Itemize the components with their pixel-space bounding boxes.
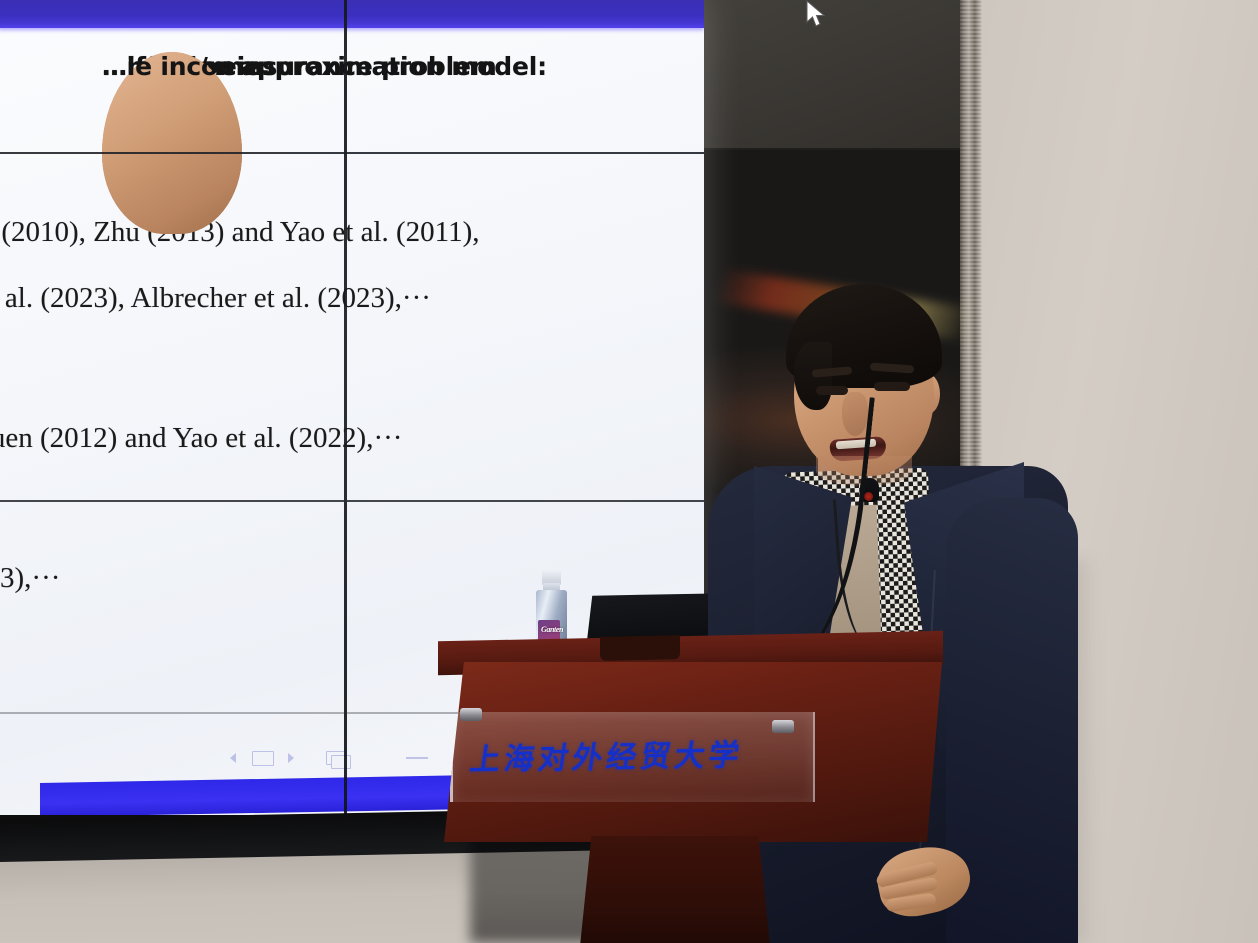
slide-frame-icon[interactable] — [252, 751, 274, 766]
slide-line-3: …u et al. (2023), Albrecher et al. (2023… — [0, 282, 431, 315]
lectern-notch — [600, 635, 680, 661]
lectern-base — [580, 836, 770, 943]
slide-line-6: …le income: — [102, 52, 242, 234]
beamer-navigation-bar[interactable] — [230, 749, 430, 767]
panel-seam-horizontal-upper — [0, 152, 704, 154]
panel-seam-vertical-center — [344, 0, 347, 845]
eye-right — [874, 382, 910, 391]
slide-line-2: …uler (2010), Zhu (2013) and Yao et al. … — [0, 216, 479, 249]
slide-line-5: … Yuen (2012) and Yao et al. (2022),··· — [0, 422, 402, 455]
unlit-panel-top — [700, 0, 960, 148]
lectern-name-plate: 上海对外经贸大学 — [450, 712, 815, 802]
slide-header-band — [0, 0, 704, 28]
university-name-text: 上海对外经贸大学 — [467, 729, 804, 779]
lectern-front-panel: 上海对外经贸大学 — [444, 662, 942, 842]
bottle-brand-text: Ganten — [541, 626, 561, 634]
lectern: 上海对外经贸大学 — [430, 636, 950, 943]
presentation-photo: …ment/reinsurance problem …uler (2010), … — [0, 0, 1258, 943]
dash-icon[interactable] — [406, 757, 428, 759]
name-plate-bolt-left — [460, 708, 482, 721]
copy-frames-icon[interactable] — [331, 755, 351, 769]
name-plate-bolt-right — [772, 720, 794, 733]
hair — [786, 284, 942, 388]
next-slide-icon[interactable] — [288, 753, 294, 763]
mouse-pointer-icon — [806, 0, 828, 30]
slide-line-7: …023),··· — [0, 562, 60, 595]
panel-seam-horizontal-lower — [0, 500, 704, 502]
prev-slide-icon[interactable] — [230, 753, 236, 763]
lapel-microphone-indicator — [864, 492, 873, 501]
